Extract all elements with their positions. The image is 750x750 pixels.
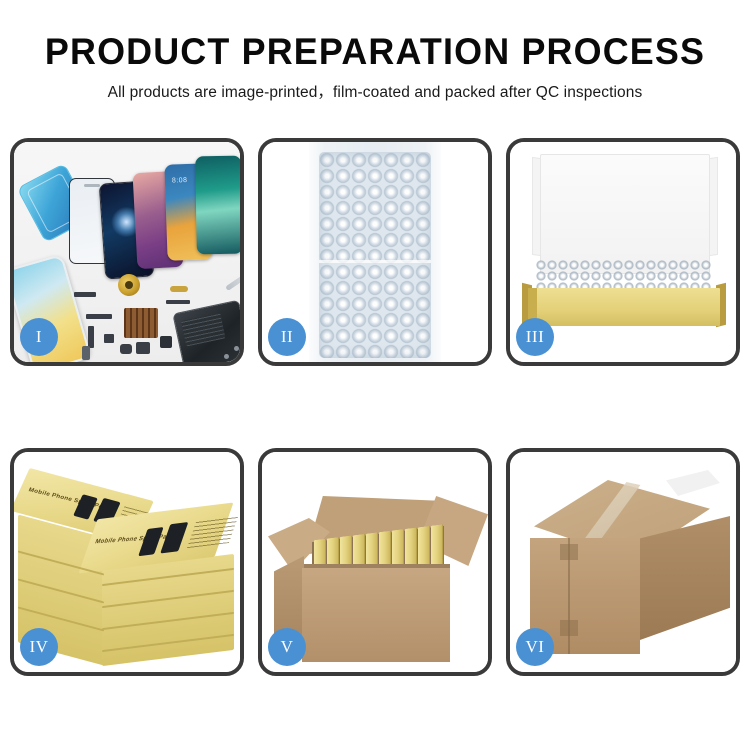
phone-screens-fan: 8:08: [102, 154, 240, 274]
wrap-seam: [319, 260, 431, 263]
screw-1: [224, 354, 229, 359]
step-badge-vi: VI: [516, 628, 554, 666]
bubble-wrap-icon: [319, 152, 431, 358]
carton-tab-upper: [560, 544, 578, 560]
speaker-coil-icon: [118, 274, 140, 296]
step-badge-iii: III: [516, 318, 554, 356]
spare-parts-group: [74, 270, 240, 362]
page-subtitle: All products are image-printed，film-coat…: [0, 82, 750, 104]
box-phone-thumb-front-2: [160, 522, 188, 553]
wrap-corner: [660, 470, 720, 496]
camera-module-icon: [160, 336, 172, 348]
carton-tab-lower: [560, 620, 578, 636]
box-front-panel: [528, 288, 720, 326]
header: PRODUCT PREPARATION PROCESS All products…: [0, 0, 750, 104]
box-spec-text-front: [187, 516, 238, 548]
step-panel-i: 8:08: [10, 138, 244, 366]
step-panel-iii: III: [506, 138, 740, 366]
phone-screen-4: [195, 156, 240, 255]
flex-cable-4: [86, 314, 112, 319]
step-badge-ii: II: [268, 318, 306, 356]
battery-icon: [82, 346, 90, 360]
phone-clock-text: 8:08: [172, 177, 188, 185]
chip-array-icon: [124, 308, 158, 338]
flex-cable-1: [74, 292, 96, 297]
connector-3: [136, 342, 150, 354]
box-lid-icon: [540, 154, 710, 274]
step-badge-v: V: [268, 628, 306, 666]
connector-2: [120, 344, 132, 354]
flex-cable-2: [170, 286, 188, 292]
tweezers-icon: [225, 270, 240, 291]
step-badge-i: I: [20, 318, 58, 356]
screw-2: [234, 346, 239, 351]
step-badge-iv: IV: [20, 628, 58, 666]
carton-front-face: [302, 568, 450, 662]
process-steps-grid: 8:08: [10, 138, 740, 676]
step-panel-ii: II: [258, 138, 492, 366]
flex-cable-3: [166, 300, 190, 304]
step-panel-vi: VI: [506, 448, 740, 676]
page-title: PRODUCT PREPARATION PROCESS: [11, 30, 739, 74]
connector-1: [104, 334, 114, 343]
step-panel-v: V: [258, 448, 492, 676]
product-preparation-infographic: PRODUCT PREPARATION PROCESS All products…: [0, 0, 750, 750]
phone-chassis-icon: [172, 300, 240, 362]
step-panel-iv: Mobile Phone Spare Parts Mobile Phone Sp…: [10, 448, 244, 676]
flex-cable-5: [88, 326, 94, 348]
